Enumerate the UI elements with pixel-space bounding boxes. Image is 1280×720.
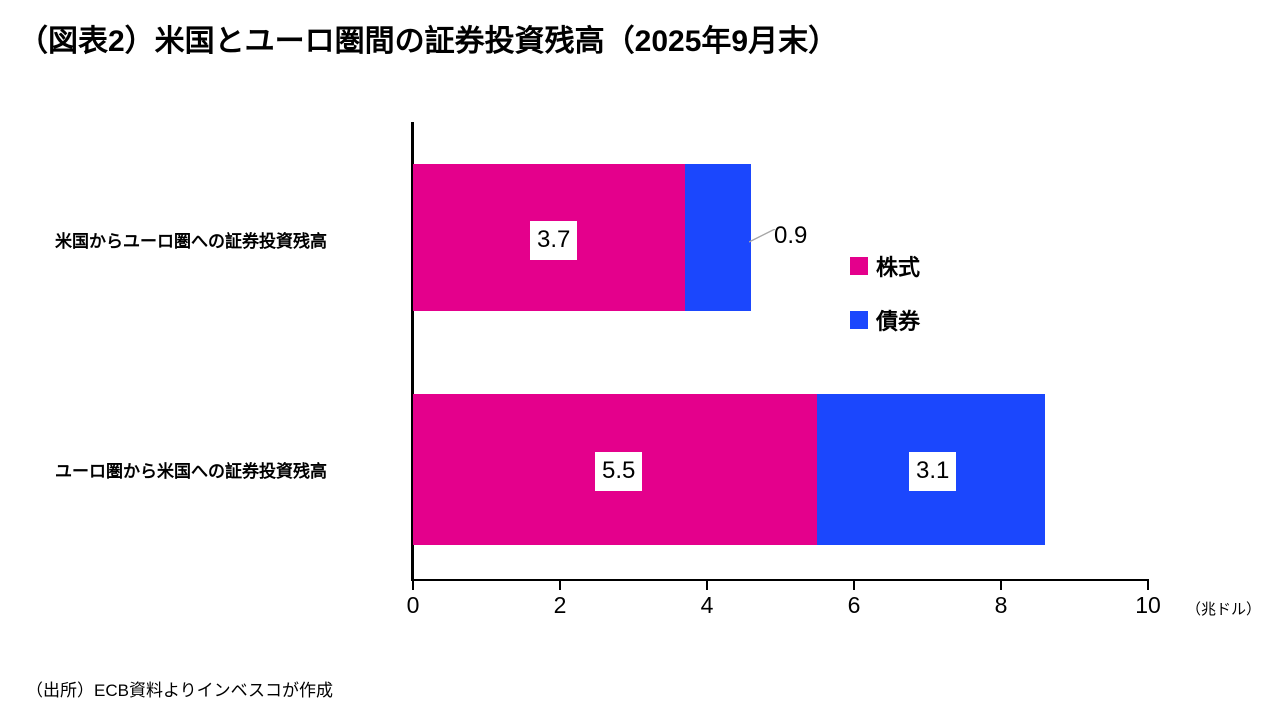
x-axis-tick-label-4: 4	[677, 592, 737, 619]
x-axis-tick-6	[853, 581, 855, 590]
x-axis-tick-label-10: 10	[1118, 592, 1178, 619]
x-axis-tick-0	[412, 581, 414, 590]
x-axis-tick-label-8: 8	[971, 592, 1031, 619]
x-axis-unit-label: （兆ドル）	[1186, 598, 1261, 619]
x-axis-tick-label-0: 0	[383, 592, 443, 619]
x-axis-line	[411, 579, 1149, 581]
legend-label-equity: 株式	[876, 250, 920, 282]
x-axis-tick-8	[1000, 581, 1002, 590]
x-axis-tick-4	[706, 581, 708, 590]
x-axis-tick-2	[559, 581, 561, 590]
data-label-equity-us-to-euro: 3.7	[530, 221, 577, 260]
source-note: （出所）ECB資料よりインベスコが作成	[26, 676, 333, 701]
leader-line-icon	[749, 229, 775, 243]
legend-item-bond[interactable]: 債券	[850, 306, 920, 334]
x-axis-tick-label-2: 2	[530, 592, 590, 619]
data-label-bond-us-to-euro: 0.9	[774, 221, 807, 251]
x-axis-tick-10	[1147, 581, 1149, 590]
legend-swatch-bond-icon	[850, 311, 868, 329]
data-label-bond-euro-to-us: 3.1	[909, 452, 956, 491]
x-axis-tick-label-6: 6	[824, 592, 884, 619]
data-label-equity-euro-to-us: 5.5	[595, 452, 642, 491]
chart-plot-area: 0 2 4 6 8 10 （兆ドル） 米国からユーロ圏への証券投資残高 ユーロ圏…	[0, 0, 1280, 720]
legend-label-bond: 債券	[876, 304, 920, 336]
legend-swatch-equity-icon	[850, 257, 868, 275]
chart-legend: 株式 債券	[850, 252, 920, 360]
bar-segment-bond-us-to-euro	[685, 164, 751, 311]
legend-item-equity[interactable]: 株式	[850, 252, 920, 280]
